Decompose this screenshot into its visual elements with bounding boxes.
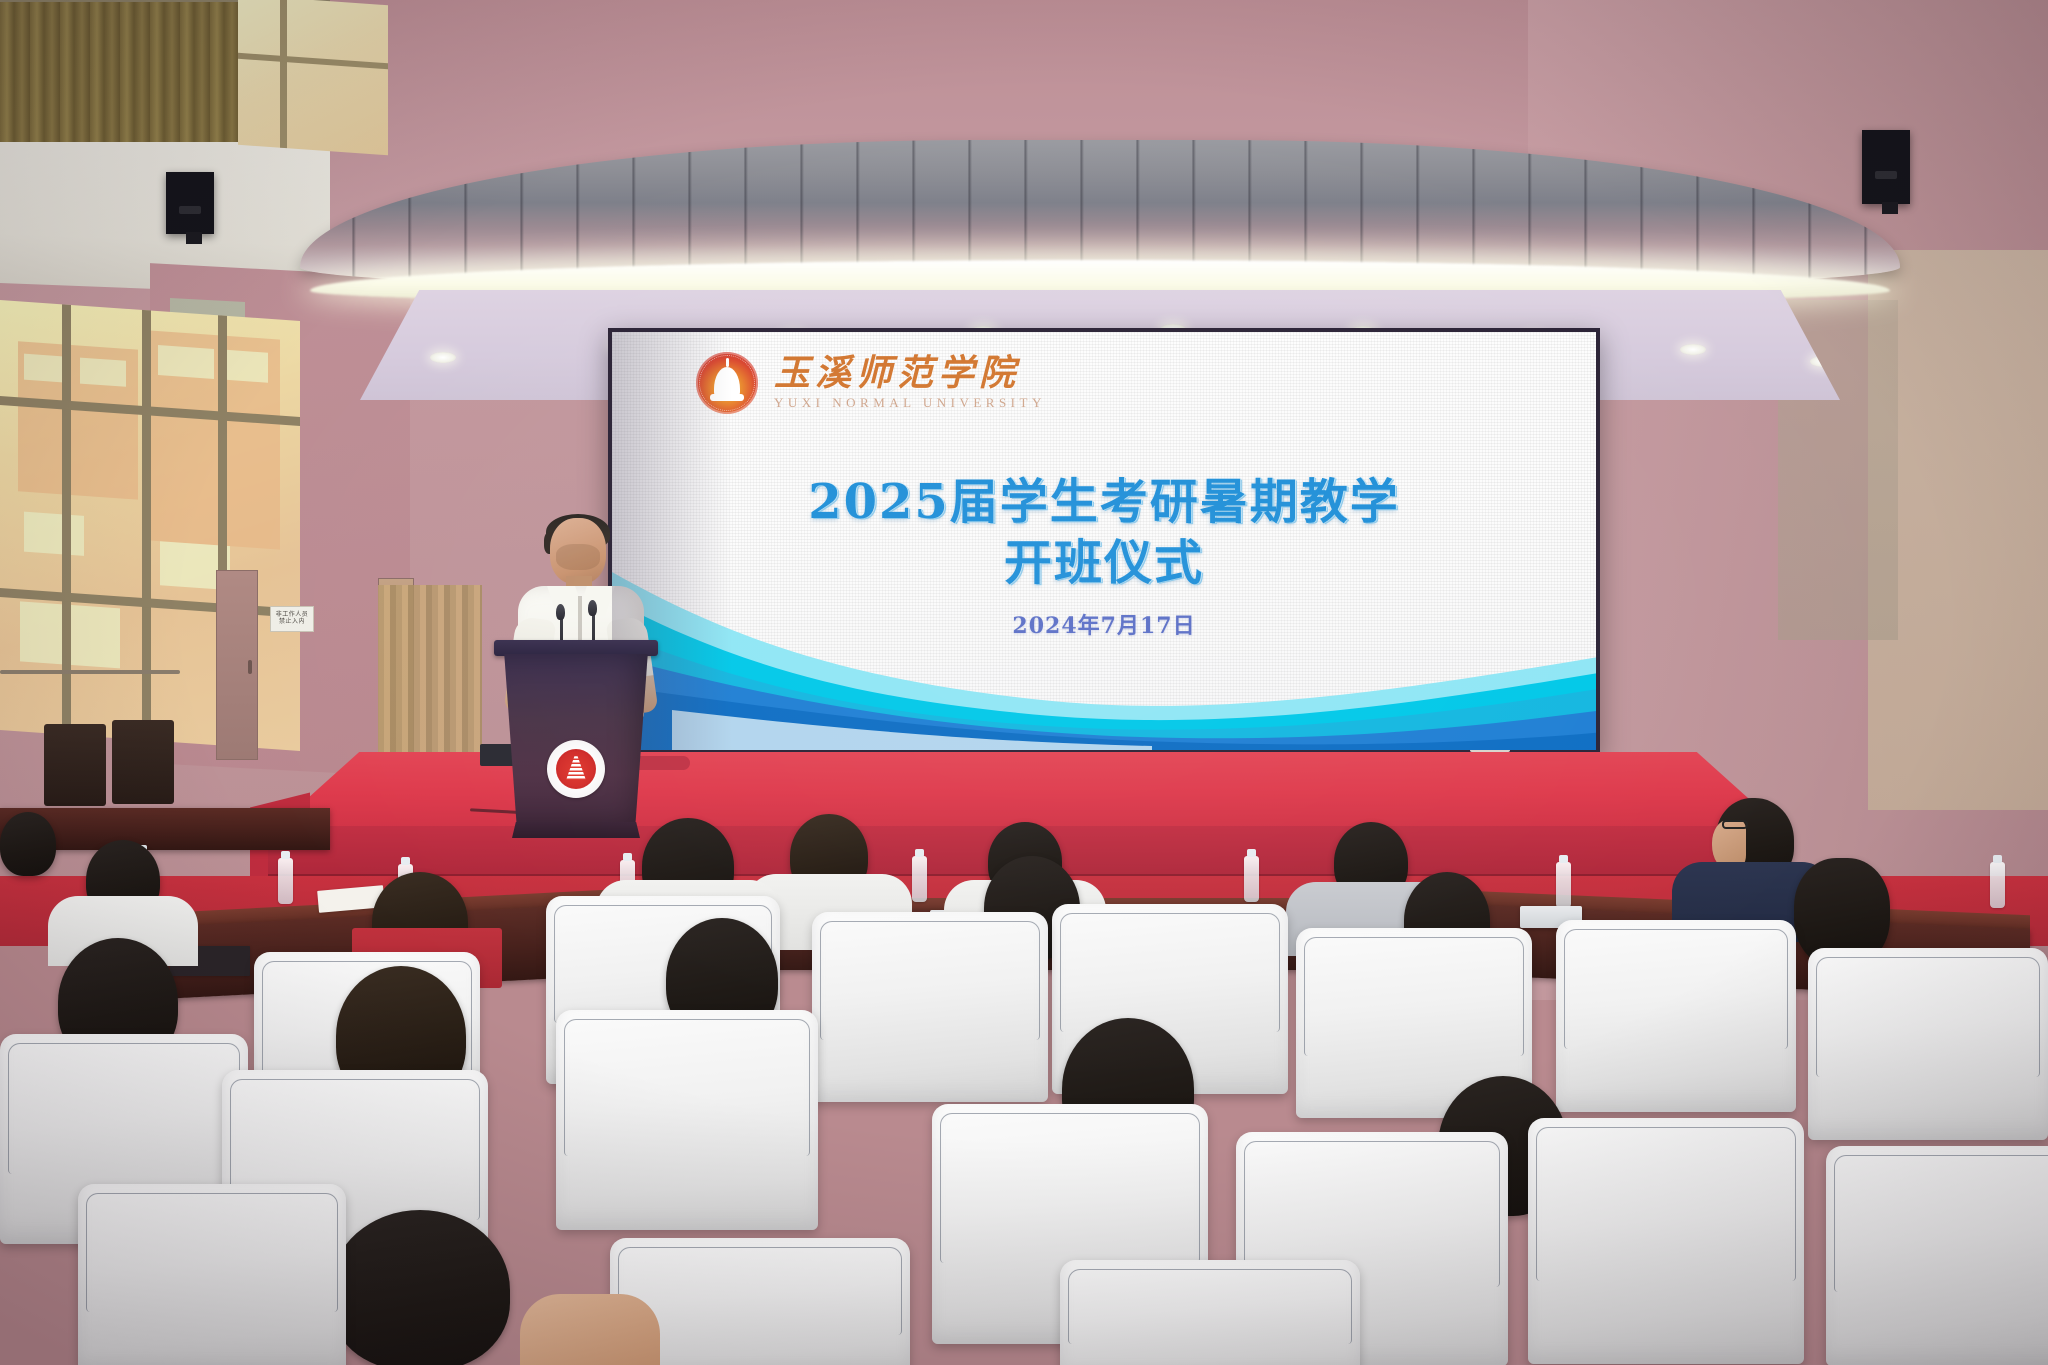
seat-chair: [1060, 1260, 1360, 1365]
water-bottle[interactable]: [1556, 862, 1571, 908]
water-bottle[interactable]: [912, 856, 927, 902]
seat-chair: [1808, 948, 2048, 1140]
audience-head: [0, 812, 56, 876]
water-bottle[interactable]: [1244, 856, 1259, 902]
seat-chair: [1556, 920, 1796, 1112]
seat-chair: [1826, 1146, 2048, 1365]
audience-area: [0, 0, 2048, 1365]
seat-chair: [556, 1010, 818, 1230]
water-bottle[interactable]: [1990, 862, 2005, 908]
seat-chair: [1528, 1118, 1804, 1364]
eyeglasses-icon: [1722, 820, 1748, 829]
audience-arm: [520, 1294, 660, 1365]
water-bottle[interactable]: [278, 858, 293, 904]
audience-head: [330, 1210, 510, 1365]
seat-chair: [78, 1184, 346, 1365]
seat-chair: [812, 912, 1048, 1102]
auditorium-photo: 非工作人员 禁止入内: [0, 0, 2048, 1365]
